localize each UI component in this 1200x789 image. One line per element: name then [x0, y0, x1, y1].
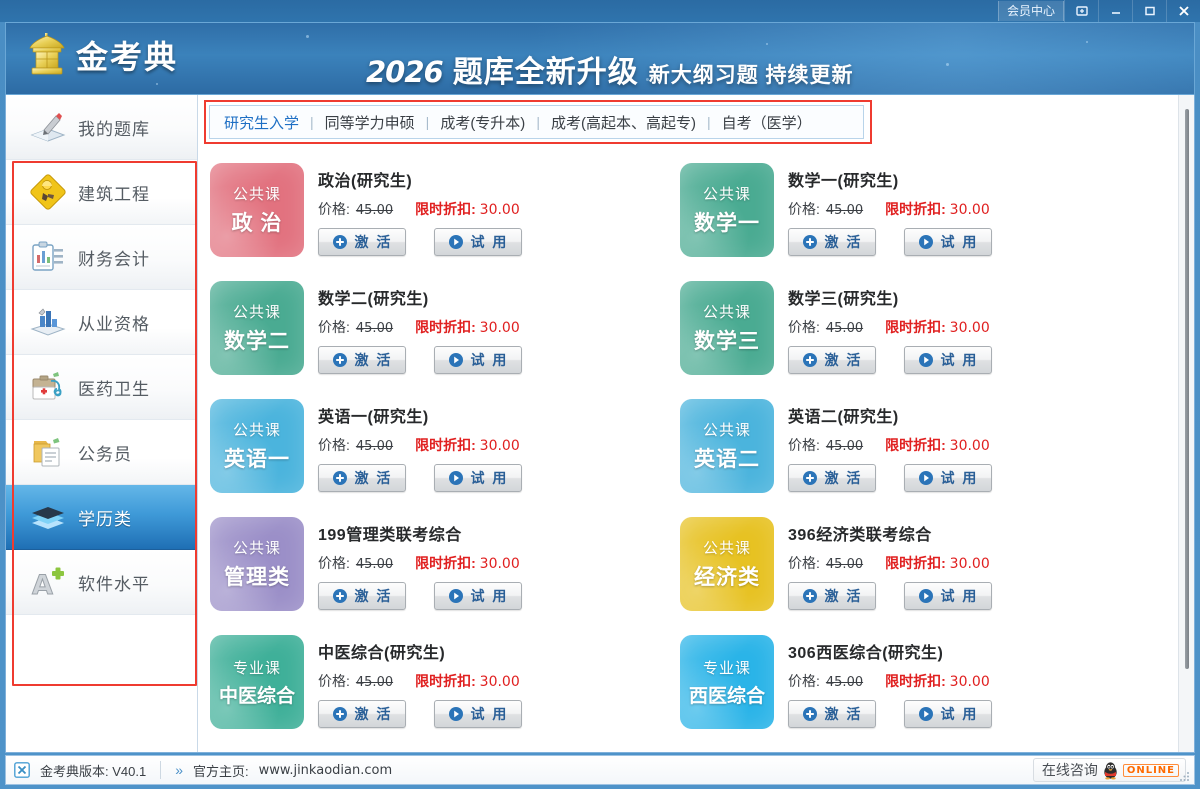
price-group: 价格:45.00: [788, 671, 863, 691]
course-actions: 激 活试 用: [318, 700, 522, 728]
activate-label: 激 活: [355, 586, 393, 606]
course-price-row: 价格:45.00限时折扣: 30.00: [788, 435, 992, 455]
discount-group: 限时折扣: 30.00: [885, 199, 990, 219]
course-card: 公共课管理类199管理类联考综合价格:45.00限时折扣: 30.00激 活试 …: [206, 511, 676, 629]
discount-group: 限时折扣: 30.00: [885, 553, 990, 573]
course-subject-label: 中医综合: [219, 681, 295, 708]
course-subject-label: 英语一: [224, 443, 290, 473]
original-price: 45.00: [356, 675, 393, 690]
course-subject-label: 数学三: [694, 325, 760, 355]
course-title: 306西医综合(研究生): [788, 639, 992, 663]
course-grid: 公共课政 治政治(研究生)价格:45.00限时折扣: 30.00激 活试 用公共…: [206, 157, 1166, 747]
vertical-scrollbar[interactable]: [1178, 95, 1194, 752]
banner-year: 2026: [366, 55, 443, 89]
sidebar-item-label: 公务员: [78, 440, 132, 465]
discount-price: 30.00: [950, 438, 990, 454]
scrollbar-thumb[interactable]: [1185, 109, 1189, 669]
sidebar-item-civil-servant[interactable]: 公务员: [6, 420, 197, 485]
discount-group: 限时折扣: 30.00: [415, 671, 520, 691]
activate-button[interactable]: 激 活: [318, 228, 406, 256]
trial-label: 试 用: [941, 704, 979, 724]
discount-price: 30.00: [480, 202, 520, 218]
course-card: 公共课数学三数学三(研究生)价格:45.00限时折扣: 30.00激 活试 用: [676, 275, 1146, 393]
pencil-notebook-icon: [28, 107, 68, 147]
sidebar-item-accounting[interactable]: 财务会计: [6, 225, 197, 290]
discount-group: 限时折扣: 30.00: [885, 671, 990, 691]
course-info: 数学二(研究生)价格:45.00限时折扣: 30.00激 活试 用: [318, 281, 522, 387]
course-actions: 激 活试 用: [788, 228, 992, 256]
course-price-row: 价格:45.00限时折扣: 30.00: [788, 671, 992, 691]
discount-label: 限时折扣:: [415, 673, 476, 689]
course-actions: 激 活试 用: [788, 346, 992, 374]
course-price-row: 价格:45.00限时折扣: 30.00: [788, 553, 992, 573]
app-logo-icon: [14, 762, 30, 778]
tab-separator: |: [536, 114, 540, 130]
activate-button[interactable]: 激 活: [788, 582, 876, 610]
sidebar-item-my-question-bank[interactable]: 我的题库: [6, 95, 197, 160]
activate-label: 激 活: [825, 350, 863, 370]
course-info: 英语一(研究生)价格:45.00限时折扣: 30.00激 活试 用: [318, 399, 522, 505]
course-actions: 激 活试 用: [318, 228, 522, 256]
course-subject-label: 数学一: [694, 207, 760, 237]
activate-label: 激 活: [825, 586, 863, 606]
trial-button[interactable]: 试 用: [904, 464, 992, 492]
letter-a-plus-icon: A: [28, 562, 68, 602]
trial-label: 试 用: [941, 232, 979, 252]
svg-text:A: A: [32, 570, 53, 601]
tab-separator: |: [426, 114, 430, 130]
plus-circle-icon: [332, 470, 348, 486]
discount-price: 30.00: [950, 320, 990, 336]
activate-label: 激 活: [355, 350, 393, 370]
trial-button[interactable]: 试 用: [904, 700, 992, 728]
activate-label: 激 活: [355, 468, 393, 488]
price-group: 价格:45.00: [318, 671, 393, 691]
course-info: 英语二(研究生)价格:45.00限时折扣: 30.00激 活试 用: [788, 399, 992, 505]
course-actions: 激 活试 用: [788, 464, 992, 492]
course-card: 公共课数学一数学一(研究生)价格:45.00限时折扣: 30.00激 活试 用: [676, 157, 1146, 275]
price-label: 价格:: [788, 201, 820, 217]
price-label: 价格:: [788, 319, 820, 335]
course-title: 中医综合(研究生): [318, 639, 522, 663]
discount-label: 限时折扣:: [415, 319, 476, 335]
tab-separator: |: [310, 114, 314, 130]
application-window: 会员中心: [0, 0, 1200, 789]
tab-graduate-entrance[interactable]: 研究生入学: [224, 112, 299, 133]
price-label: 价格:: [788, 673, 820, 689]
trial-label: 试 用: [941, 468, 979, 488]
course-title: 英语二(研究生): [788, 403, 992, 427]
discount-label: 限时折扣:: [415, 437, 476, 453]
course-title: 396经济类联考综合: [788, 521, 992, 545]
discount-group: 限时折扣: 30.00: [885, 435, 990, 455]
course-actions: 激 活试 用: [318, 582, 522, 610]
course-info: 396经济类联考综合价格:45.00限时折扣: 30.00激 活试 用: [788, 517, 992, 623]
activate-button[interactable]: 激 活: [318, 346, 406, 374]
engineer-helmet-icon: [28, 172, 68, 212]
course-title: 政治(研究生): [318, 167, 522, 191]
sidebar-item-label: 从业资格: [78, 310, 150, 335]
discount-group: 限时折扣: 30.00: [415, 435, 520, 455]
discount-label: 限时折扣:: [885, 673, 946, 689]
tab-adult-exam-upgrade[interactable]: 成考(专升本): [440, 112, 525, 133]
plus-circle-icon: [802, 234, 818, 250]
plus-circle-icon: [332, 588, 348, 604]
course-kind-label: 公共课: [233, 301, 281, 322]
sidebar-item-software-level[interactable]: A 软件水平: [6, 550, 197, 615]
plus-circle-icon: [802, 470, 818, 486]
course-actions: 激 活试 用: [318, 464, 522, 492]
course-kind-label: 专业课: [233, 657, 281, 678]
plus-circle-icon: [332, 352, 348, 368]
course-card: 公共课英语二英语二(研究生)价格:45.00限时折扣: 30.00激 活试 用: [676, 393, 1146, 511]
course-kind-label: 公共课: [233, 183, 281, 204]
status-bar: 金考典版本: V40.1 » 官方主页: www.jinkaodian.com …: [5, 755, 1195, 785]
trial-label: 试 用: [471, 704, 509, 724]
course-thumbnail[interactable]: 公共课英语一: [210, 399, 304, 493]
course-thumbnail[interactable]: 公共课经济类: [680, 517, 774, 611]
course-card: 公共课数学二数学二(研究生)价格:45.00限时折扣: 30.00激 活试 用: [206, 275, 676, 393]
course-info: 政治(研究生)价格:45.00限时折扣: 30.00激 活试 用: [318, 163, 522, 269]
activate-label: 激 活: [825, 704, 863, 724]
activate-label: 激 活: [825, 468, 863, 488]
sidebar: 我的题库 建筑工程: [6, 95, 198, 752]
activate-button[interactable]: 激 活: [318, 464, 406, 492]
course-price-row: 价格:45.00限时折扣: 30.00: [318, 435, 522, 455]
activate-label: 激 活: [355, 704, 393, 724]
restore-down-icon[interactable]: [1064, 0, 1098, 22]
plus-circle-icon: [332, 706, 348, 722]
course-subject-label: 经济类: [694, 561, 760, 591]
price-label: 价格:: [318, 555, 350, 571]
course-subject-label: 英语二: [694, 443, 760, 473]
app-logo-text: 金考典: [76, 32, 178, 78]
course-price-row: 价格:45.00限时折扣: 30.00: [788, 199, 992, 219]
course-title: 数学三(研究生): [788, 285, 992, 309]
discount-price: 30.00: [950, 674, 990, 690]
play-circle-icon: [918, 588, 934, 604]
course-kind-label: 专业课: [703, 657, 751, 678]
course-thumbnail[interactable]: 公共课政 治: [210, 163, 304, 257]
medical-kit-icon: [28, 367, 68, 407]
trial-button[interactable]: 试 用: [904, 228, 992, 256]
course-info: 199管理类联考综合价格:45.00限时折扣: 30.00激 活试 用: [318, 517, 522, 623]
course-title: 199管理类联考综合: [318, 521, 522, 545]
course-subject-label: 管理类: [224, 561, 290, 591]
version-text: 金考典版本: V40.1: [40, 761, 146, 780]
course-price-row: 价格:45.00限时折扣: 30.00: [318, 671, 522, 691]
discount-price: 30.00: [480, 674, 520, 690]
homepage-url-link[interactable]: www.jinkaodian.com: [259, 763, 393, 778]
price-group: 价格:45.00: [788, 435, 863, 455]
folder-document-icon: [28, 432, 68, 472]
homepage-label: 官方主页:: [193, 761, 249, 780]
sidebar-item-label: 财务会计: [78, 245, 150, 270]
play-circle-icon: [448, 706, 464, 722]
course-title: 数学一(研究生): [788, 167, 992, 191]
plus-circle-icon: [802, 706, 818, 722]
banner-subhead: 新大纲习题 持续更新: [649, 59, 854, 89]
play-circle-icon: [448, 352, 464, 368]
play-circle-icon: [448, 588, 464, 604]
price-label: 价格:: [318, 319, 350, 335]
tab-separator: |: [707, 114, 711, 130]
close-icon[interactable]: [1166, 0, 1200, 22]
sidebar-item-medical[interactable]: 医药卫生: [6, 355, 197, 420]
discount-label: 限时折扣:: [415, 201, 476, 217]
member-center-button[interactable]: 会员中心: [998, 1, 1064, 21]
trial-button[interactable]: 试 用: [434, 700, 522, 728]
online-status-badge: ONLINE: [1123, 764, 1179, 777]
plus-circle-icon: [802, 588, 818, 604]
play-circle-icon: [918, 706, 934, 722]
clipboard-chart-icon: [28, 237, 68, 277]
price-label: 价格:: [788, 437, 820, 453]
discount-group: 限时折扣: 30.00: [415, 317, 520, 337]
discount-price: 30.00: [480, 438, 520, 454]
discount-label: 限时折扣:: [885, 437, 946, 453]
banner-slogan: 2026 题库全新升级 新大纲习题 持续更新: [366, 47, 854, 91]
sidebar-item-academic-degree[interactable]: 学历类: [6, 485, 197, 550]
title-bar: 会员中心: [0, 0, 1200, 22]
sidebar-item-professional-qualification[interactable]: 从业资格: [6, 290, 197, 355]
course-thumbnail[interactable]: 专业课中医综合: [210, 635, 304, 729]
course-thumbnail[interactable]: 公共课管理类: [210, 517, 304, 611]
course-kind-label: 公共课: [703, 301, 751, 322]
activate-button[interactable]: 激 活: [788, 464, 876, 492]
trial-label: 试 用: [471, 586, 509, 606]
play-circle-icon: [918, 352, 934, 368]
sidebar-item-label: 我的题库: [78, 115, 150, 140]
discount-label: 限时折扣:: [885, 201, 946, 217]
chevron-right-icon: »: [175, 762, 183, 778]
original-price: 45.00: [356, 439, 393, 454]
activate-button[interactable]: 激 活: [318, 582, 406, 610]
plus-circle-icon: [802, 352, 818, 368]
course-info: 306西医综合(研究生)价格:45.00限时折扣: 30.00激 活试 用: [788, 635, 992, 741]
trial-label: 试 用: [941, 350, 979, 370]
discount-label: 限时折扣:: [885, 319, 946, 335]
original-price: 45.00: [826, 321, 863, 336]
course-thumbnail[interactable]: 公共课数学三: [680, 281, 774, 375]
price-group: 价格:45.00: [318, 553, 393, 573]
plus-circle-icon: [332, 234, 348, 250]
play-circle-icon: [918, 234, 934, 250]
trial-label: 试 用: [471, 232, 509, 252]
course-subject-label: 数学二: [224, 325, 290, 355]
trial-button[interactable]: 试 用: [434, 228, 522, 256]
course-kind-label: 公共课: [703, 537, 751, 558]
price-group: 价格:45.00: [318, 199, 393, 219]
discount-group: 限时折扣: 30.00: [415, 553, 520, 573]
play-circle-icon: [918, 470, 934, 486]
layers-icon: [28, 497, 68, 537]
course-actions: 激 活试 用: [318, 346, 522, 374]
trial-label: 试 用: [471, 350, 509, 370]
course-card: 公共课政 治政治(研究生)价格:45.00限时折扣: 30.00激 活试 用: [206, 157, 676, 275]
course-card: 公共课经济类396经济类联考综合价格:45.00限时折扣: 30.00激 活试 …: [676, 511, 1146, 629]
original-price: 45.00: [356, 557, 393, 572]
price-group: 价格:45.00: [788, 199, 863, 219]
main-panel: 研究生入学 | 同等学力申硕 | 成考(专升本) | 成考(高起本、高起专) |…: [198, 95, 1194, 752]
course-card: 专业课中医综合中医综合(研究生)价格:45.00限时折扣: 30.00激 活试 …: [206, 629, 676, 747]
maximize-icon[interactable]: [1132, 0, 1166, 22]
course-title: 数学二(研究生): [318, 285, 522, 309]
price-group: 价格:45.00: [318, 317, 393, 337]
course-kind-label: 公共课: [703, 183, 751, 204]
minimize-icon[interactable]: [1098, 0, 1132, 22]
price-label: 价格:: [318, 201, 350, 217]
discount-group: 限时折扣: 30.00: [415, 199, 520, 219]
trial-button[interactable]: 试 用: [434, 346, 522, 374]
course-subject-label: 政 治: [232, 207, 283, 237]
course-title: 英语一(研究生): [318, 403, 522, 427]
course-info: 数学一(研究生)价格:45.00限时折扣: 30.00激 活试 用: [788, 163, 992, 269]
trial-label: 试 用: [941, 586, 979, 606]
online-consult-button[interactable]: 在线咨询 ONLINE: [1033, 758, 1186, 782]
discount-label: 限时折扣:: [885, 555, 946, 571]
course-info: 中医综合(研究生)价格:45.00限时折扣: 30.00激 活试 用: [318, 635, 522, 741]
discount-price: 30.00: [480, 556, 520, 572]
resize-grip-icon[interactable]: [1179, 770, 1191, 782]
online-consult-label: 在线咨询: [1042, 760, 1098, 780]
discount-price: 30.00: [950, 556, 990, 572]
discount-group: 限时折扣: 30.00: [885, 317, 990, 337]
course-price-row: 价格:45.00限时折扣: 30.00: [318, 553, 522, 573]
discount-label: 限时折扣:: [415, 555, 476, 571]
original-price: 45.00: [826, 557, 863, 572]
trial-button[interactable]: 试 用: [434, 464, 522, 492]
content-area: 我的题库 建筑工程: [5, 95, 1195, 753]
original-price: 45.00: [826, 675, 863, 690]
course-thumbnail[interactable]: 公共课数学二: [210, 281, 304, 375]
trial-button[interactable]: 试 用: [904, 582, 992, 610]
price-label: 价格:: [788, 555, 820, 571]
course-actions: 激 活试 用: [788, 700, 992, 728]
discount-price: 30.00: [950, 202, 990, 218]
course-kind-label: 公共课: [233, 419, 281, 440]
course-price-row: 价格:45.00限时折扣: 30.00: [318, 317, 522, 337]
course-thumbnail[interactable]: 专业课西医综合: [680, 635, 774, 729]
activate-button[interactable]: 激 活: [788, 346, 876, 374]
original-price: 45.00: [356, 203, 393, 218]
price-group: 价格:45.00: [318, 435, 393, 455]
course-price-row: 价格:45.00限时折扣: 30.00: [788, 317, 992, 337]
course-list: 公共课政 治政治(研究生)价格:45.00限时折扣: 30.00激 活试 用公共…: [198, 151, 1194, 752]
trial-label: 试 用: [471, 468, 509, 488]
price-label: 价格:: [318, 673, 350, 689]
activate-button[interactable]: 激 活: [788, 228, 876, 256]
price-group: 价格:45.00: [788, 553, 863, 573]
sidebar-item-label: 学历类: [78, 505, 132, 530]
category-tab-bar: 研究生入学 | 同等学力申硕 | 成考(专升本) | 成考(高起本、高起专) |…: [209, 105, 864, 139]
sidebar-item-label: 软件水平: [78, 570, 150, 595]
course-card: 专业课西医综合306西医综合(研究生)价格:45.00限时折扣: 30.00激 …: [676, 629, 1146, 747]
sidebar-item-construction[interactable]: 建筑工程: [6, 160, 197, 225]
promo-banner: 金考典 2026 题库全新升级 新大纲习题 持续更新: [5, 22, 1195, 95]
course-thumbnail[interactable]: 公共课数学一: [680, 163, 774, 257]
sidebar-item-label: 医药卫生: [78, 375, 150, 400]
course-card: 公共课英语一英语一(研究生)价格:45.00限时折扣: 30.00激 活试 用: [206, 393, 676, 511]
tab-self-study-medical[interactable]: 自考（医学）: [722, 112, 812, 133]
sidebar-item-label: 建筑工程: [78, 180, 150, 205]
course-actions: 激 活试 用: [788, 582, 992, 610]
qq-penguin-icon: [1102, 761, 1119, 780]
course-info: 数学三(研究生)价格:45.00限时折扣: 30.00激 活试 用: [788, 281, 992, 387]
activate-button[interactable]: 激 活: [788, 700, 876, 728]
activate-label: 激 活: [825, 232, 863, 252]
activate-label: 激 活: [355, 232, 393, 252]
activate-button[interactable]: 激 活: [318, 700, 406, 728]
tab-equivalent-master[interactable]: 同等学力申硕: [325, 112, 415, 133]
tab-adult-exam-senior[interactable]: 成考(高起本、高起专): [551, 112, 696, 133]
price-label: 价格:: [318, 437, 350, 453]
course-kind-label: 公共课: [233, 537, 281, 558]
app-logo: 金考典: [26, 31, 178, 79]
status-divider: [160, 761, 161, 779]
original-price: 45.00: [356, 321, 393, 336]
course-price-row: 价格:45.00限时折扣: 30.00: [318, 199, 522, 219]
bar-chart-book-icon: [28, 302, 68, 342]
play-circle-icon: [448, 234, 464, 250]
discount-price: 30.00: [480, 320, 520, 336]
pagoda-logo-icon: [26, 31, 68, 79]
price-group: 价格:45.00: [788, 317, 863, 337]
original-price: 45.00: [826, 203, 863, 218]
trial-button[interactable]: 试 用: [434, 582, 522, 610]
banner-headline: 题库全新升级: [453, 47, 639, 91]
course-kind-label: 公共课: [703, 419, 751, 440]
original-price: 45.00: [826, 439, 863, 454]
course-subject-label: 西医综合: [689, 681, 765, 708]
trial-button[interactable]: 试 用: [904, 346, 992, 374]
play-circle-icon: [448, 470, 464, 486]
course-thumbnail[interactable]: 公共课英语二: [680, 399, 774, 493]
